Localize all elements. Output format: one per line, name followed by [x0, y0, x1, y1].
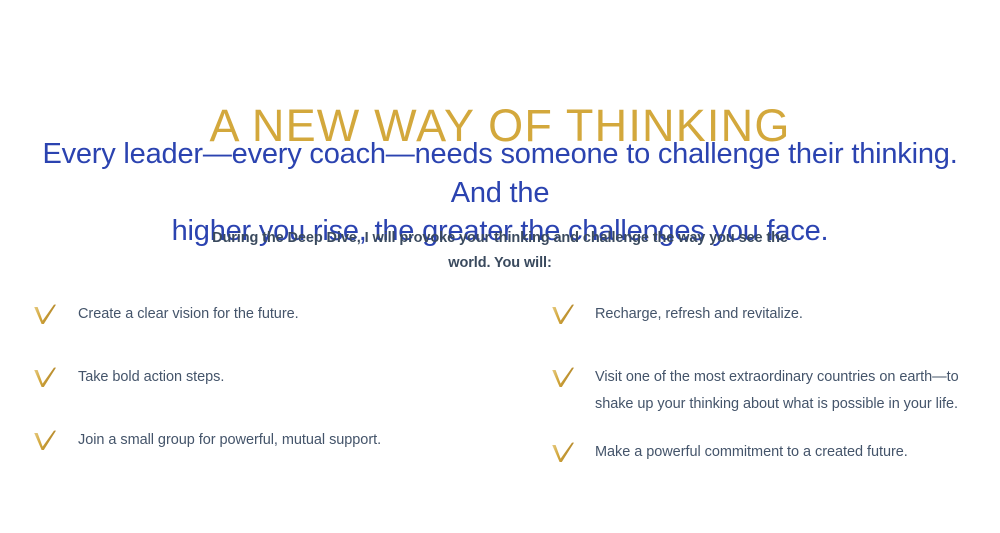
intro-paragraph: During the Deep Dive, I will provoke you…: [190, 226, 810, 276]
list-item: Take bold action steps.: [24, 363, 494, 406]
gold-check-icon: [28, 361, 62, 395]
subheadline-line-1: Every leader—every coach—needs someone t…: [42, 138, 957, 209]
gold-check-icon: [28, 298, 62, 332]
list-item: Recharge, refresh and revitalize.: [542, 300, 990, 343]
gold-check-icon: [546, 298, 580, 332]
list-item-label: Create a clear vision for the future.: [78, 300, 494, 328]
benefits-columns: Create a clear vision for the future.: [0, 300, 1000, 480]
list-item-label: Take bold action steps.: [78, 363, 494, 391]
list-item: Make a powerful commitment to a created …: [542, 438, 990, 481]
gold-check-icon: [546, 361, 580, 395]
list-item-label: Recharge, refresh and revitalize.: [595, 300, 990, 328]
intro-line-2: world. You will:: [448, 255, 551, 271]
list-item: Visit one of the most extraordinary coun…: [542, 363, 990, 418]
intro-line-1: During the Deep Dive, I will provoke you…: [212, 230, 788, 246]
list-item-label: Join a small group for powerful, mutual …: [78, 426, 494, 454]
list-item-label: Visit one of the most extraordinary coun…: [595, 363, 990, 418]
list-item: Create a clear vision for the future.: [24, 300, 494, 343]
gold-check-icon: [28, 424, 62, 458]
benefits-column-right: Recharge, refresh and revitalize.: [542, 300, 990, 501]
benefits-column-left: Create a clear vision for the future.: [24, 300, 494, 489]
list-item-label: Make a powerful commitment to a created …: [595, 438, 990, 466]
promo-page: A NEW WAY OF THINKING Every leader—every…: [0, 0, 1000, 533]
gold-check-icon: [546, 436, 580, 470]
list-item: Join a small group for powerful, mutual …: [24, 426, 494, 469]
